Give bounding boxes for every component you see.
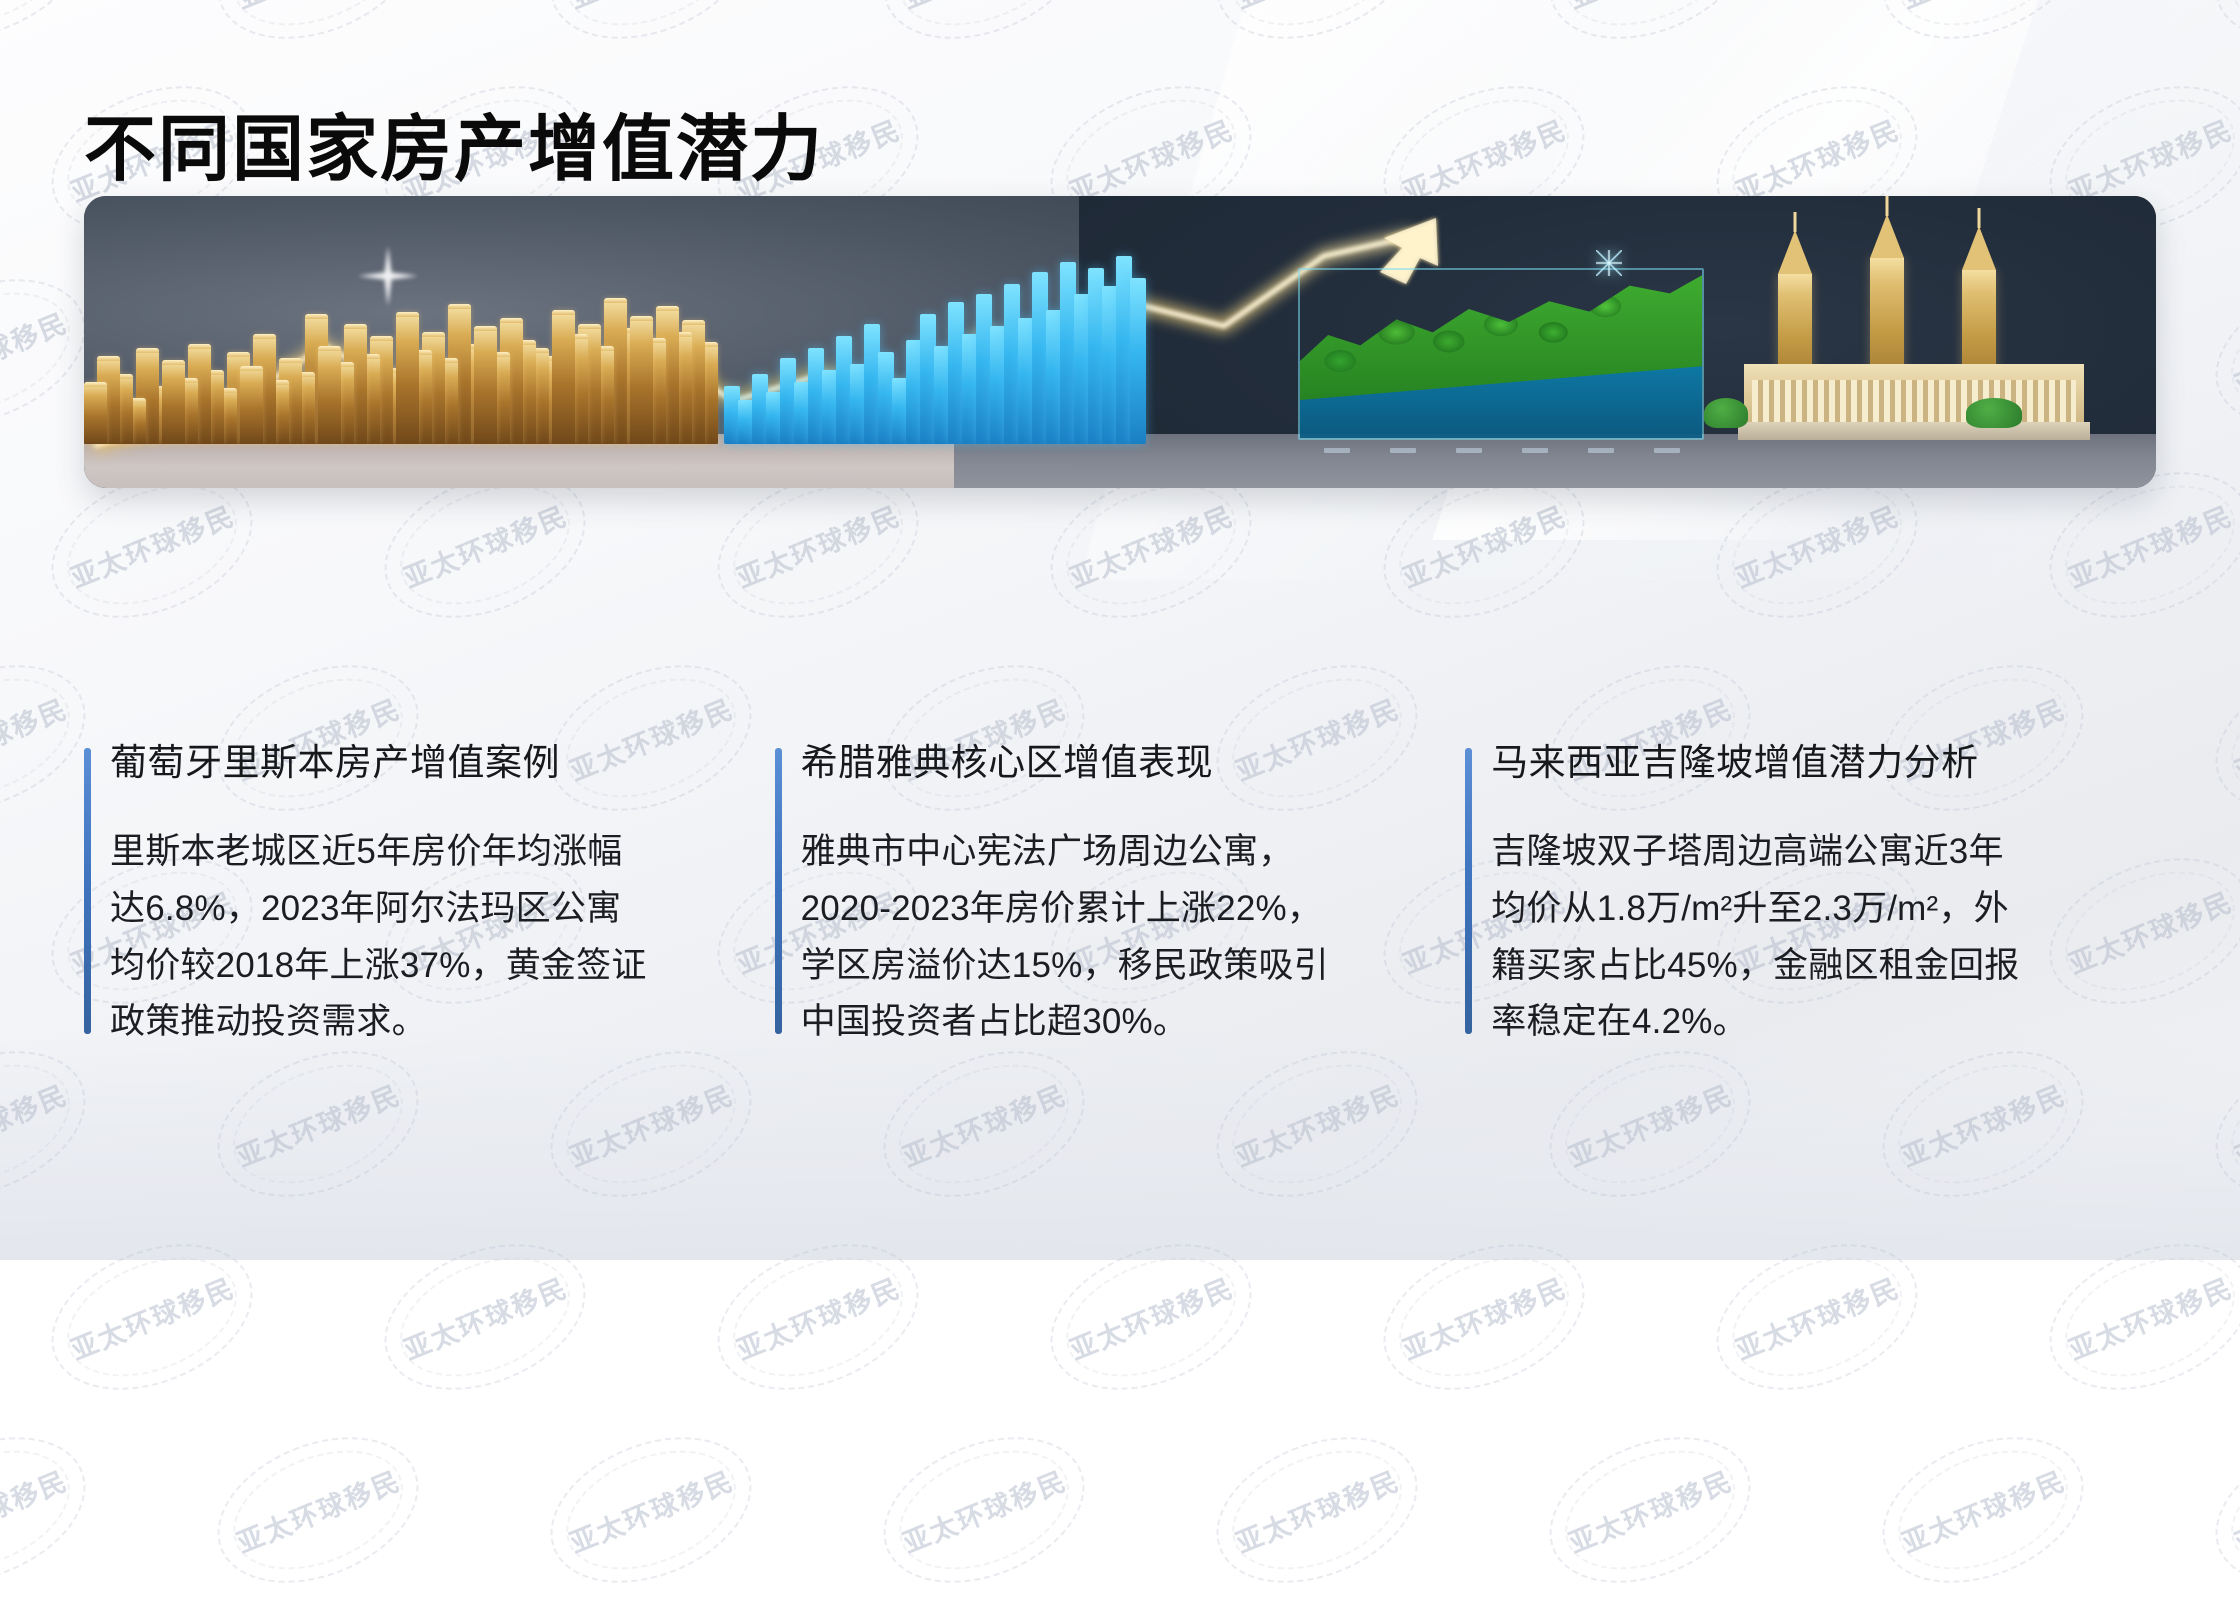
case-columns: 葡萄牙里斯本房产增值案例 里斯本老城区近5年房价年均涨幅 达6.8%，2023年… <box>84 740 2156 1140</box>
watermark-ring <box>1528 1409 1772 1610</box>
gold-bar <box>552 310 575 444</box>
hero-illustration <box>84 196 2156 488</box>
watermark-ring-inner <box>216 1428 421 1593</box>
watermark: 亚太环球移民 <box>0 1409 107 1610</box>
watermark: 亚太环球移民 <box>1861 1409 2105 1610</box>
watermark-text: 亚太环球移民 <box>879 1453 1088 1568</box>
axis-tick <box>1654 448 1680 453</box>
gold-bar <box>84 382 107 444</box>
watermark-text: 亚太环球移民 <box>1212 1453 1421 1568</box>
watermark-text: 亚太环球移民 <box>546 1453 755 1568</box>
page-title: 不同国家房产增值潜力 <box>84 114 824 186</box>
watermark-ring-inner <box>1881 1428 2086 1593</box>
watermark-text: 亚太环球移民 <box>2211 1453 2240 1568</box>
watermark-text: 亚太环球移民 <box>1545 1453 1754 1568</box>
axis-tick <box>1390 448 1416 453</box>
watermark: 亚太环球移民 <box>1528 1409 1772 1610</box>
body-line: 均价较2018年上涨37%，黄金签证 <box>110 938 710 995</box>
body-line: 吉隆坡双子塔周边高端公寓近3年 <box>1491 824 2091 881</box>
body-line: 政策推动投资需求。 <box>110 994 710 1051</box>
case-body-greece: 雅典市中心宪法广场周边公寓， 2020-2023年房价累计上涨22%， 学区房溢… <box>801 824 1401 1051</box>
bush-right <box>1966 398 2022 428</box>
watermark: 亚太环球移民 <box>862 1409 1106 1610</box>
body-line: 籍买家占比45%，金融区租金回报 <box>1491 938 2091 995</box>
watermark-text: 亚太环球移民 <box>47 1260 256 1375</box>
gold-bar <box>162 360 185 444</box>
case-title-portugal: 葡萄牙里斯本房产增值案例 <box>110 740 775 786</box>
gold-coin-bars <box>84 292 724 444</box>
blue-bar <box>1130 278 1146 444</box>
watermark-ring <box>2194 1409 2240 1610</box>
case-column-portugal: 葡萄牙里斯本房产增值案例 里斯本老城区近5年房价年均涨幅 达6.8%，2023年… <box>84 740 775 1140</box>
case-column-greece: 希腊雅典核心区增值表现 雅典市中心宪法广场周边公寓， 2020-2023年房价累… <box>775 740 1466 1140</box>
watermark-ring-inner <box>1215 1428 1420 1593</box>
hero-banner <box>84 196 2156 488</box>
axis-tick <box>1588 448 1614 453</box>
watermark-text: 亚太环球移民 <box>1046 1260 1255 1375</box>
watermark: 亚太环球移民 <box>2194 1409 2240 1610</box>
watermark-ring <box>862 1409 1106 1610</box>
axis-tick <box>1324 448 1350 453</box>
watermark-ring <box>529 1409 773 1610</box>
axis-tick <box>1522 448 1548 453</box>
axis-tick <box>1456 448 1482 453</box>
watermark-text: 亚太环球移民 <box>2045 1260 2240 1375</box>
body-line: 均价从1.8万/m²升至2.3万/m²，外 <box>1491 881 2091 938</box>
watermark-ring-inner <box>2214 1428 2240 1593</box>
watermark-text: 亚太环球移民 <box>380 1260 589 1375</box>
gold-bar <box>474 326 497 444</box>
watermark-text: 亚太环球移民 <box>1379 1260 1588 1375</box>
accent-rule <box>775 748 782 1034</box>
case-title-malaysia: 马来西亚吉隆坡增值潜力分析 <box>1491 740 2156 786</box>
gold-bar <box>630 316 653 444</box>
watermark-text: 亚太环球移民 <box>213 1453 422 1568</box>
watermark-ring <box>196 1409 440 1610</box>
case-body-portugal: 里斯本老城区近5年房价年均涨幅 达6.8%，2023年阿尔法玛区公寓 均价较20… <box>110 824 710 1051</box>
accent-rule <box>84 748 91 1034</box>
body-line: 学区房溢价达15%，移民政策吸引 <box>801 938 1401 995</box>
gold-bar <box>396 312 419 444</box>
gold-bar <box>240 366 263 444</box>
body-line: 2020-2023年房价累计上涨22%， <box>801 881 1401 938</box>
watermark-ring <box>0 1409 107 1610</box>
watermark: 亚太环球移民 <box>529 1409 773 1610</box>
watermark-text: 亚太环球移民 <box>0 1453 90 1568</box>
kuala-lumpur-towers <box>1744 238 2084 448</box>
blue-bar-chart <box>724 256 1144 444</box>
palm-sparkle-icon <box>1596 250 1622 276</box>
body-line: 达6.8%，2023年阿尔法玛区公寓 <box>110 881 710 938</box>
body-line: 率稳定在4.2%。 <box>1491 994 2091 1051</box>
watermark-ring-inner <box>1548 1428 1753 1593</box>
watermark-ring-inner <box>0 1428 87 1593</box>
case-body-malaysia: 吉隆坡双子塔周边高端公寓近3年 均价从1.8万/m²升至2.3万/m²，外 籍买… <box>1491 824 2091 1051</box>
watermark-ring-inner <box>549 1428 754 1593</box>
colonnade <box>1752 380 2076 424</box>
gold-bar <box>318 346 341 444</box>
case-column-malaysia: 马来西亚吉隆坡增值潜力分析 吉隆坡双子塔周边高端公寓近3年 均价从1.8万/m²… <box>1465 740 2156 1140</box>
watermark-text: 亚太环球移民 <box>1712 1260 1921 1375</box>
watermark: 亚太环球移民 <box>196 1409 440 1610</box>
bush-left <box>1704 398 1748 428</box>
watermark: 亚太环球移民 <box>1195 1409 1439 1610</box>
watermark-ring <box>1861 1409 2105 1610</box>
island-area-chart <box>1284 228 1714 460</box>
watermark-text: 亚太环球移民 <box>713 1260 922 1375</box>
chart-axis-labels <box>1304 442 1700 458</box>
accent-rule <box>1465 748 1472 1034</box>
body-line: 中国投资者占比超30%。 <box>801 994 1401 1051</box>
body-line: 里斯本老城区近5年房价年均涨幅 <box>110 824 710 881</box>
body-line: 雅典市中心宪法广场周边公寓， <box>801 824 1401 881</box>
building-base <box>1738 422 2090 440</box>
watermark-text: 亚太环球移民 <box>1878 1453 2087 1568</box>
watermark-ring-inner <box>882 1428 1087 1593</box>
watermark-ring <box>1195 1409 1439 1610</box>
case-title-greece: 希腊雅典核心区增值表现 <box>801 740 1466 786</box>
